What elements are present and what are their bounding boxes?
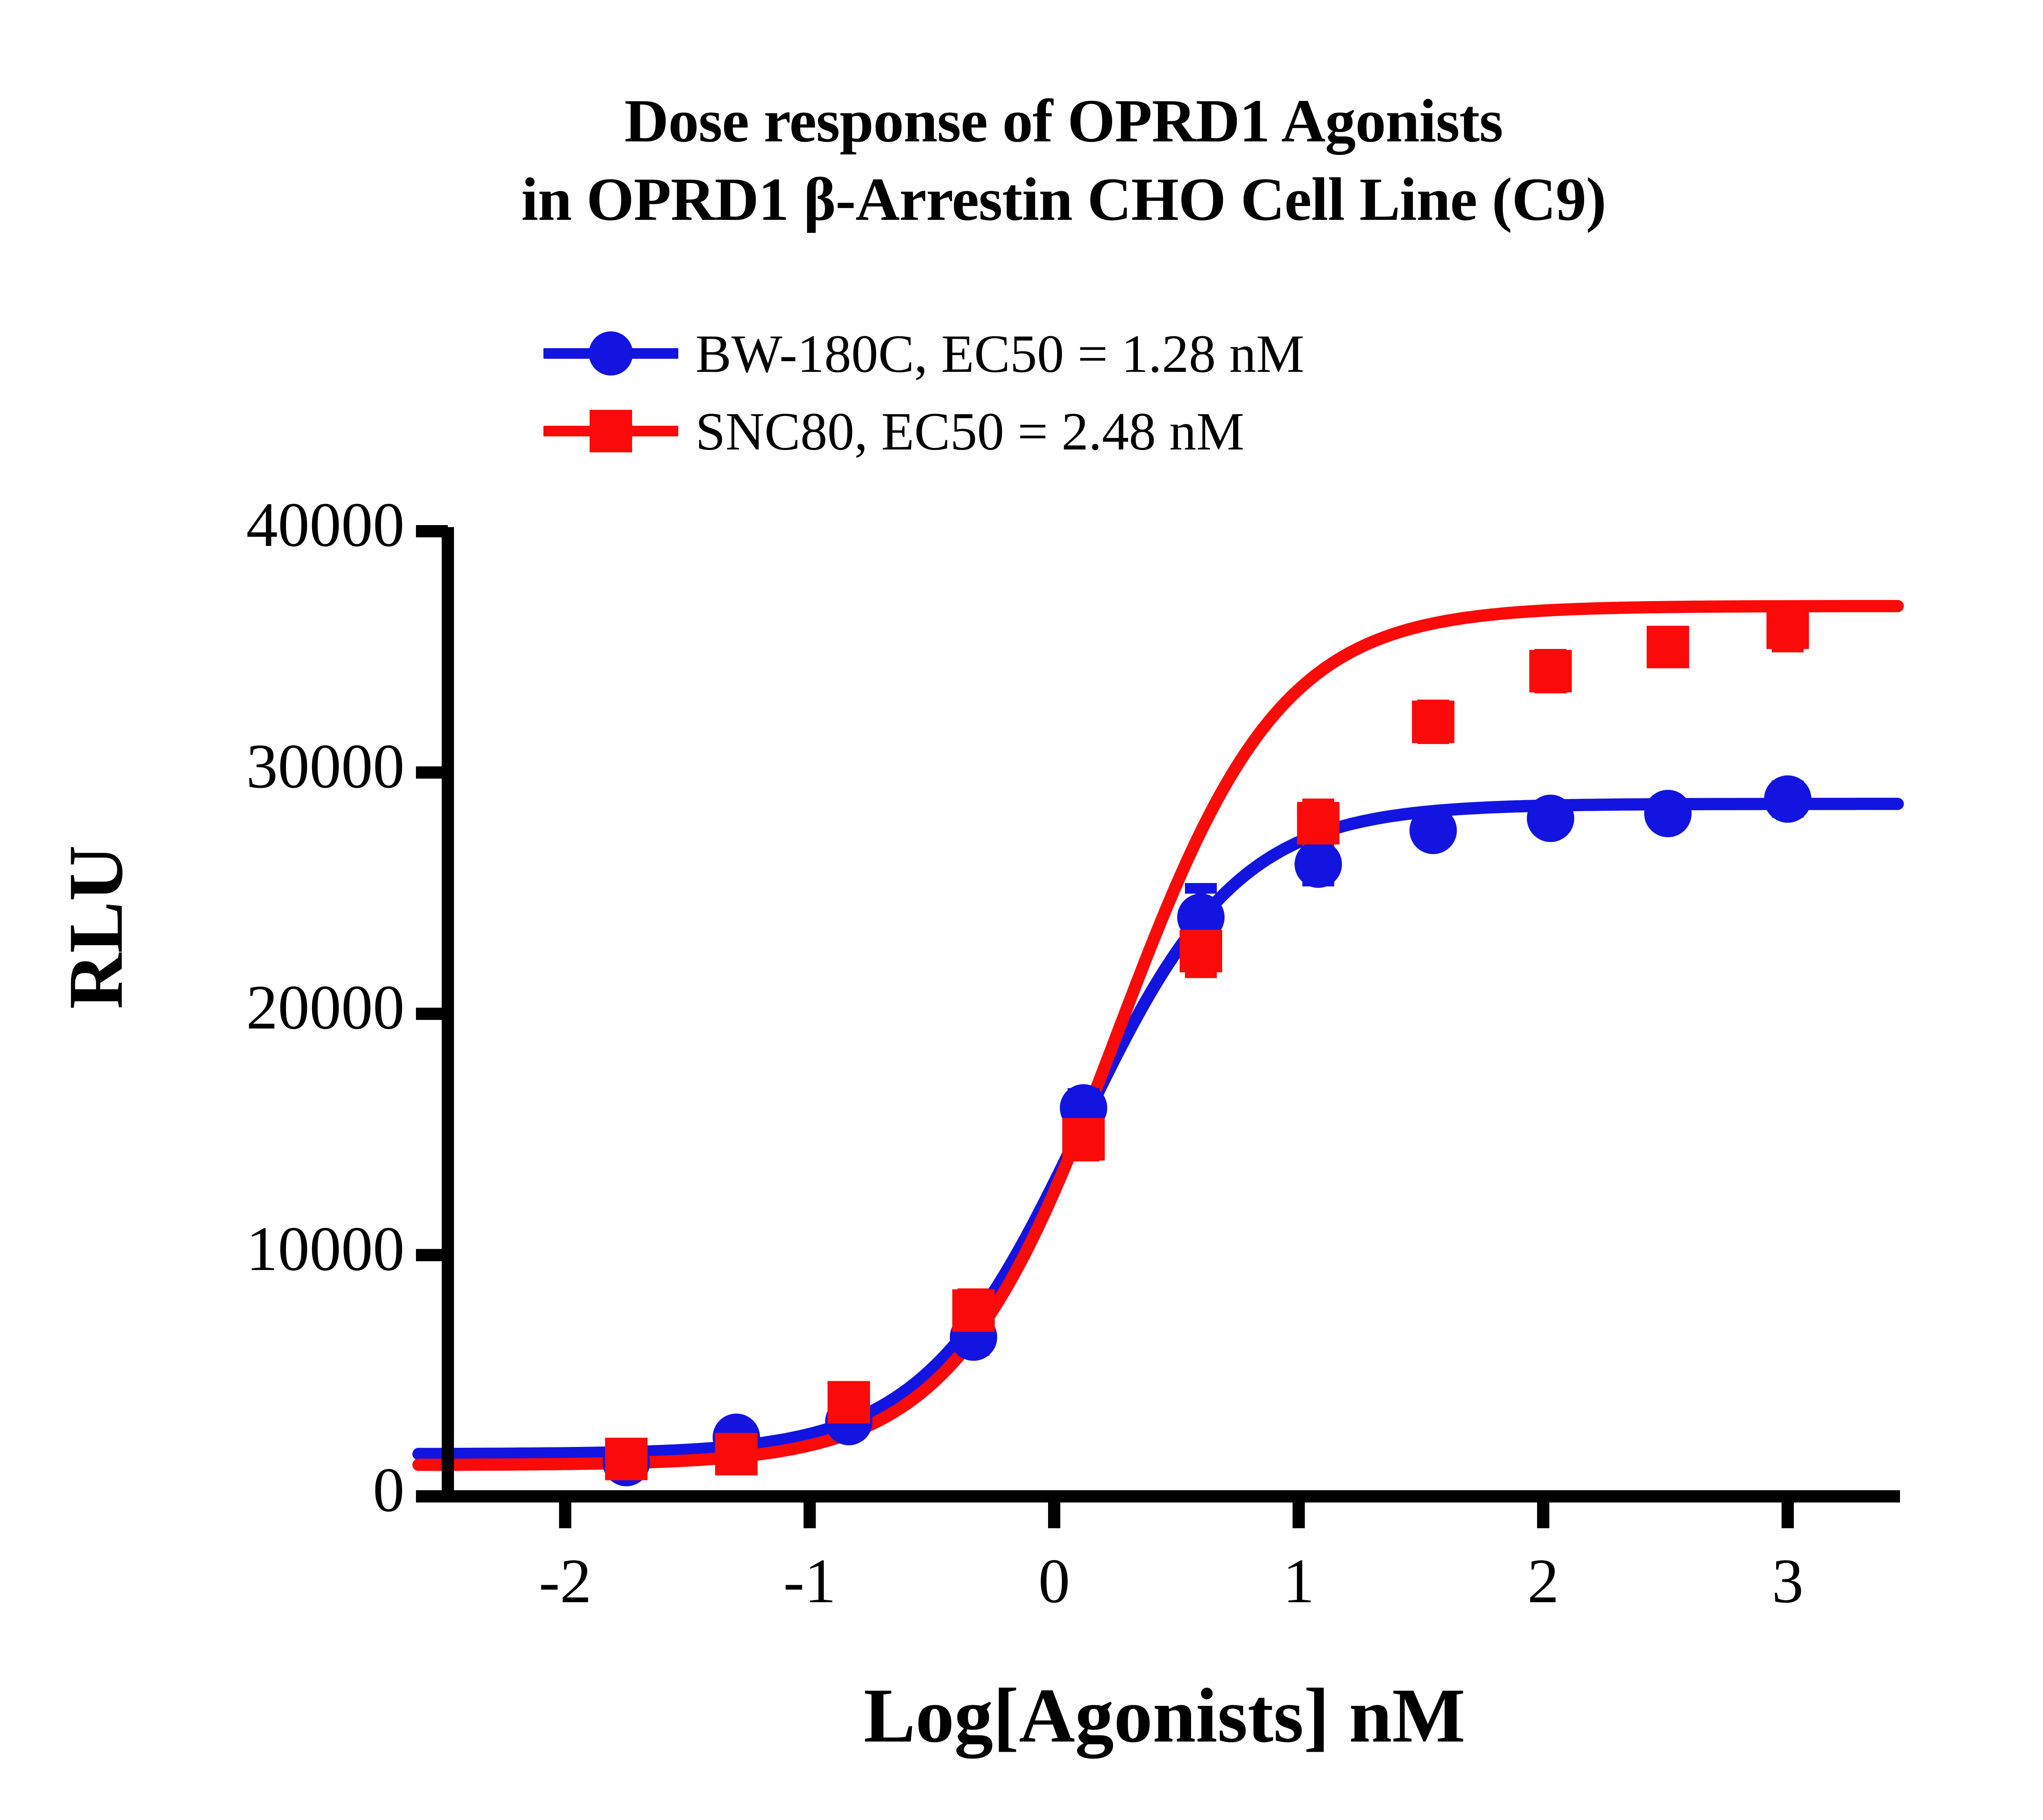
x-axis-tick-label: -1 <box>749 1545 871 1618</box>
data-point-marker-square[interactable] <box>1297 802 1339 845</box>
data-point-marker-square[interactable] <box>715 1433 758 1476</box>
data-point-marker-square[interactable] <box>1062 1118 1105 1160</box>
data-point-marker-circle[interactable] <box>1764 775 1811 823</box>
data-point-marker-circle[interactable] <box>1410 807 1457 854</box>
data-point-marker-square[interactable] <box>952 1289 995 1332</box>
data-point-marker-square[interactable] <box>1766 606 1809 649</box>
data-point-marker-circle[interactable] <box>1294 841 1342 888</box>
data-point-marker-circle[interactable] <box>1527 795 1574 842</box>
y-axis-tick-label: 0 <box>0 1453 405 1527</box>
x-axis-tick-label: 0 <box>993 1545 1115 1618</box>
data-point-marker-square[interactable] <box>1529 650 1572 692</box>
fit-curve-blue <box>418 804 1898 1454</box>
x-axis-tick-label: 3 <box>1726 1545 1849 1618</box>
x-axis-label: Log[Agonists] nM <box>409 1671 1920 1760</box>
y-axis-tick-label: 10000 <box>0 1212 405 1286</box>
y-axis-tick-label: 40000 <box>0 488 405 561</box>
chart-figure: Dose response of OPRD1 Agonists in OPRD1… <box>0 0 2043 1820</box>
data-point-marker-square[interactable] <box>1412 700 1455 743</box>
y-axis-tick-label: 20000 <box>0 971 405 1044</box>
y-axis-tick-label: 30000 <box>0 730 405 803</box>
fit-curve-red <box>418 606 1898 1465</box>
data-point-marker-square[interactable] <box>1647 626 1689 668</box>
data-point-marker-circle[interactable] <box>1644 790 1692 837</box>
x-axis-tick-label: -2 <box>504 1545 626 1618</box>
x-axis-tick-label: 1 <box>1237 1545 1360 1618</box>
x-axis-tick-label: 2 <box>1482 1545 1605 1618</box>
data-point-marker-square[interactable] <box>605 1438 648 1480</box>
data-point-marker-square[interactable] <box>1180 930 1222 972</box>
data-point-marker-square[interactable] <box>827 1381 870 1424</box>
